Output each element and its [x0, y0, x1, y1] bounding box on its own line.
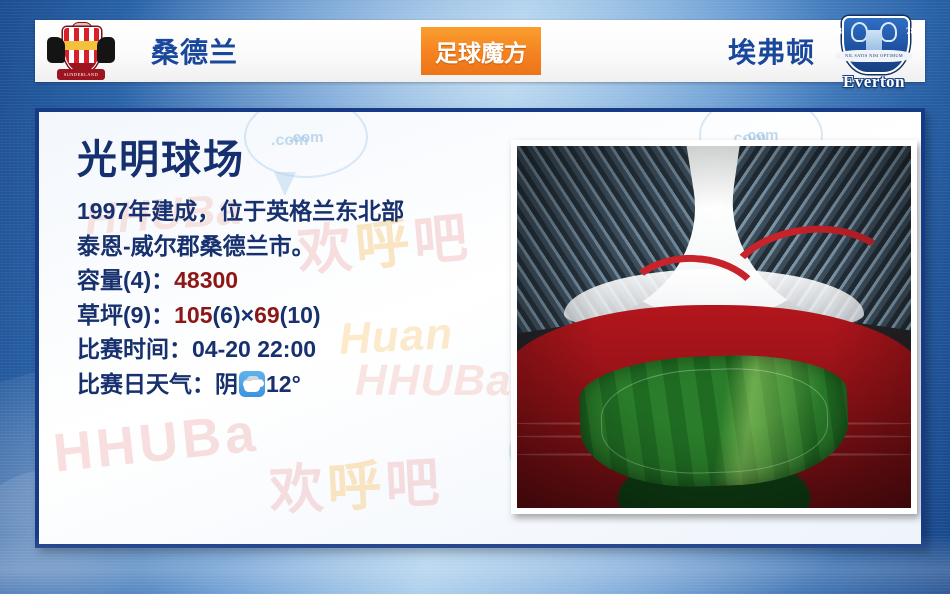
- app-root: SUNDERLAND A.F.C. 桑德兰 足球魔方 埃弗顿 18 78 NIL…: [0, 0, 950, 594]
- stadium-description-line-1: 1997年建成，位于英格兰东北部: [77, 194, 507, 229]
- weather-row: 比赛日天气：阴 12°: [77, 367, 507, 402]
- crest-shield: [63, 27, 101, 73]
- stadium-photo: [517, 146, 911, 508]
- pitch-label: 草坪(9)：: [77, 302, 174, 328]
- home-team-block[interactable]: SUNDERLAND A.F.C. 桑德兰: [35, 20, 421, 82]
- stadium-photo-column: [507, 112, 921, 544]
- match-time-label: 比赛时间：: [77, 336, 192, 362]
- photo-vignette: [517, 146, 911, 508]
- weather-label: 比赛日天气：: [77, 371, 215, 397]
- home-team-name: 桑德兰: [151, 31, 238, 71]
- match-time-value: 04-20 22:00: [192, 336, 316, 362]
- cloud-shape-front: [244, 383, 260, 392]
- crest-year-left: 18: [833, 26, 842, 36]
- stadium-description-line-2: 泰恩-威尔郡桑德兰市。: [77, 229, 507, 264]
- crest-wordmark: Everton: [831, 72, 917, 92]
- crest-year-right: 78: [906, 26, 915, 36]
- match-header-bar: SUNDERLAND A.F.C. 桑德兰 足球魔方 埃弗顿 18 78 NIL…: [35, 20, 925, 82]
- sunderland-crest-icon: SUNDERLAND A.F.C.: [45, 23, 117, 79]
- away-team-name: 埃弗顿: [728, 31, 815, 71]
- capacity-value: 48300: [174, 267, 238, 293]
- weather-condition: 阴: [215, 371, 238, 397]
- brand-logo[interactable]: 足球魔方: [421, 27, 541, 75]
- crest-scroll-text: SUNDERLAND A.F.C.: [57, 69, 105, 80]
- away-team-block[interactable]: 埃弗顿 18 78 NIL SATIS NISI OPTIMUM Everton: [541, 20, 925, 82]
- brand-logo-text: 足球魔方: [435, 34, 527, 68]
- stadium-title: 光明球场: [77, 140, 507, 180]
- crest-motto-ribbon: NIL SATIS NISI OPTIMUM: [835, 50, 913, 62]
- crest-lion-right: [97, 37, 115, 63]
- capacity-label: 容量(4)：: [77, 267, 174, 293]
- stadium-info-column: 光明球场 1997年建成，位于英格兰东北部 泰恩-威尔郡桑德兰市。 容量(4)：…: [39, 112, 507, 544]
- stadium-photo-frame[interactable]: [511, 140, 917, 514]
- pitch-length-rank: (6): [213, 302, 241, 328]
- crest-lion-left: [47, 37, 65, 63]
- capacity-row: 容量(4)：48300: [77, 263, 507, 298]
- pitch-width: 69: [254, 302, 280, 328]
- stadium-info-card: .com .com .com HHUBa 欢呼吧 Huan HHUBa HHUB…: [35, 108, 925, 548]
- weather-temperature: 12°: [266, 371, 301, 397]
- pitch-width-rank: (10): [280, 302, 321, 328]
- pitch-length: 105: [174, 302, 212, 328]
- cloudy-icon: [239, 371, 265, 397]
- pitch-separator: ×: [241, 302, 254, 328]
- everton-crest-icon: 18 78 NIL SATIS NISI OPTIMUM Everton: [831, 14, 917, 92]
- pitch-size-row: 草坪(9)：105(6)×69(10): [77, 298, 507, 333]
- crest-wreath-right: [880, 22, 897, 42]
- match-time-row: 比赛时间：04-20 22:00: [77, 332, 507, 367]
